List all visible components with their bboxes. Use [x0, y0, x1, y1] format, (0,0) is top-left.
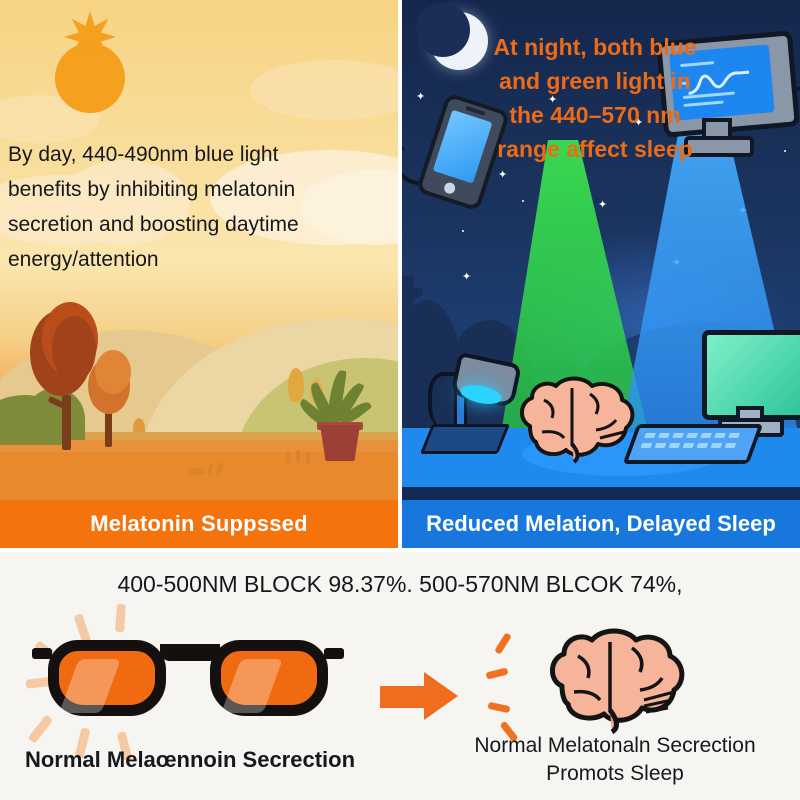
- blue-light-glasses-icon: [48, 632, 328, 724]
- right-caption-line-2: Promots Sleep: [430, 760, 800, 788]
- potted-plant-icon: [320, 425, 360, 461]
- night-caption-label: Reduced Melation, Delayed Sleep: [426, 511, 776, 537]
- night-caption-bar: Reduced Melation, Delayed Sleep: [402, 500, 800, 548]
- right-arrow-icon: [380, 672, 458, 720]
- footprint-icon: [286, 452, 290, 464]
- infographic-canvas: By day, 440-490nm blue light benefits by…: [0, 0, 800, 800]
- day-description-text: By day, 440-490nm blue light benefits by…: [8, 137, 328, 277]
- sun-icon: [22, 10, 157, 145]
- night-panel: ✦ ✦ ✦ ✦ ✦ ✦ ✦ ✦: [402, 0, 800, 548]
- tree-foliage: [95, 350, 131, 394]
- block-rate-heading: 400-500NM BLOCK 98.37%. 500-570NM BLCOK …: [0, 571, 800, 598]
- footprint-icon: [188, 468, 204, 475]
- desk-edge: [402, 487, 800, 500]
- brain-icon: [540, 626, 690, 734]
- glasses-temple: [32, 648, 52, 659]
- glasses-temple: [324, 648, 344, 659]
- star-icon: [522, 200, 524, 202]
- glasses-lens-left: [48, 640, 166, 716]
- brain-icon: [512, 372, 644, 464]
- glasses-lens-right: [210, 640, 328, 716]
- bottom-panel: 400-500NM BLOCK 98.37%. 500-570NM BLCOK …: [0, 552, 800, 800]
- ray-burst-icon: [115, 604, 126, 633]
- tree-icon: [288, 368, 304, 402]
- star-icon: ✦: [416, 92, 425, 103]
- left-caption: Normal Melaœnnoin Secrection: [10, 747, 370, 773]
- footprint-icon: [306, 452, 310, 464]
- right-caption: Normal Melatonaln Secrection Promots Sle…: [430, 732, 800, 788]
- arrow-head: [424, 672, 458, 720]
- right-caption-line-1: Normal Melatonaln Secrection: [430, 732, 800, 760]
- ray-burst-icon: [488, 702, 511, 713]
- star-icon: [462, 230, 464, 232]
- day-caption-bar: Melatonin Suppssed: [0, 500, 398, 548]
- phone-home-button: [443, 181, 457, 195]
- arrow-stem: [380, 686, 428, 708]
- day-panel: By day, 440-490nm blue light benefits by…: [0, 0, 398, 548]
- star-icon: ✦: [462, 272, 471, 283]
- tree-silhouette: [402, 276, 414, 336]
- lens-highlight: [221, 659, 283, 713]
- night-description-text: At night, both blue and green light in t…: [480, 30, 710, 166]
- footprint-icon: [296, 450, 300, 462]
- lamp-base: [420, 424, 510, 454]
- ray-burst-icon: [485, 667, 508, 679]
- day-caption-label: Melatonin Suppssed: [90, 511, 308, 537]
- star-icon: ✦: [598, 200, 607, 211]
- glasses-bridge: [160, 644, 220, 661]
- lens-highlight: [59, 659, 121, 713]
- star-icon: ✦: [498, 170, 507, 181]
- star-icon: [784, 150, 786, 152]
- ray-burst-icon: [494, 632, 512, 654]
